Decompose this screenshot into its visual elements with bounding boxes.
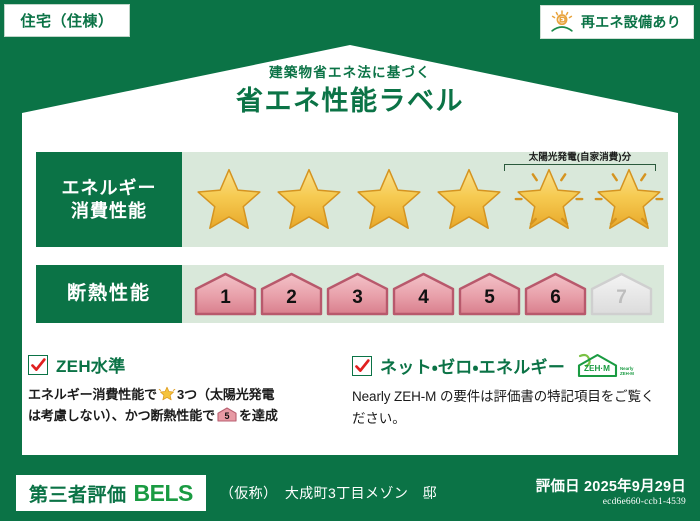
building-type-tag: 住宅（住棟） bbox=[4, 4, 130, 37]
insulation-level-group: 1234567 bbox=[182, 265, 653, 323]
headline-block: 建築物省エネ法に基づく 省エネ性能ラベル bbox=[0, 64, 700, 117]
energy-stars-body: 太陽光発電(自家消費)分 bbox=[182, 152, 668, 247]
star-icon bbox=[350, 161, 428, 239]
zeh-standard-column: ZEH水準 エネルギー消費性能で 3つ（太陽光発電は考慮しない）、かつ断熱性能で… bbox=[28, 352, 352, 430]
inline-badge-number: 5 bbox=[225, 411, 230, 421]
solar-sun-icon bbox=[549, 10, 575, 34]
insulation-label-text: 断熱性能 bbox=[67, 282, 151, 306]
renewable-badge-label: 再エネ設備あり bbox=[581, 12, 681, 32]
zeh-body-part-c: は考慮しない）、かつ断熱性能で bbox=[28, 408, 215, 423]
footer-bar: 第三者評価 BELS （仮称） 大成町3丁目メゾン 邸 評価日 2025年9月2… bbox=[0, 465, 700, 521]
star-icon bbox=[430, 161, 508, 239]
insulation-level-number: 3 bbox=[352, 288, 363, 316]
star-rating-group bbox=[182, 152, 668, 247]
insulation-level-badge-5: 5 bbox=[458, 272, 521, 316]
insulation-level-badge-2: 2 bbox=[260, 272, 323, 316]
insulation-levels-body: 1234567 bbox=[182, 265, 664, 323]
zeh-body-part-d: を達成 bbox=[239, 408, 278, 423]
third-party-label: 第三者評価 bbox=[29, 480, 127, 507]
insulation-level-number: 5 bbox=[484, 288, 495, 316]
zeh-m-logo-icon: ZEH·M Nearly ZEH-M bbox=[576, 352, 638, 379]
zeh-standard-body: エネルギー消費性能で 3つ（太陽光発電は考慮しない）、かつ断熱性能で 5 を達成 bbox=[28, 384, 342, 426]
net-zero-body: Nearly ZEH-M の要件は評価書の特記項目をご覧ください。 bbox=[352, 386, 666, 430]
energy-label-line2: 消費性能 bbox=[71, 200, 147, 223]
net-zero-header: ネット・ゼロ・エネルギー ZEH·M Nearly ZEH-M bbox=[352, 352, 666, 379]
zeh-m-logo-sub2: ZEH-M bbox=[620, 371, 634, 376]
zeh-standard-checkbox bbox=[28, 355, 48, 375]
footer-meta: 評価日 2025年9月29日 ecd6e660-ccb1-4539 bbox=[536, 479, 686, 508]
insulation-level-number: 1 bbox=[220, 288, 231, 316]
building-type-label: 住宅（住棟） bbox=[20, 10, 113, 31]
star-icon bbox=[190, 161, 268, 239]
insulation-level-badge-3: 3 bbox=[326, 272, 389, 316]
zeh-standard-header: ZEH水準 bbox=[28, 352, 342, 377]
insulation-level-badge-4: 4 bbox=[392, 272, 455, 316]
inline-insulation-badge: 5 bbox=[217, 407, 237, 422]
reference-code: ecd6e660-ccb1-4539 bbox=[536, 497, 686, 507]
star-icon bbox=[270, 161, 348, 239]
net-zero-title: ネット・ゼロ・エネルギー bbox=[380, 353, 565, 378]
insulation-level-badge-6: 6 bbox=[524, 272, 587, 316]
insulation-level-badge-1: 1 bbox=[194, 272, 257, 316]
zeh-body-part-a: エネルギー消費性能で bbox=[28, 387, 157, 402]
evaluation-date: 評価日 2025年9月29日 bbox=[536, 479, 686, 496]
energy-label-line1: エネルギー bbox=[62, 177, 157, 200]
star-icon-solar bbox=[510, 161, 588, 239]
energy-consumption-row: エネルギー 消費性能 太陽光発電(自家消費)分 bbox=[36, 152, 664, 247]
insulation-performance-row: 断熱性能 1234567 bbox=[36, 265, 664, 323]
insulation-level-badge-7: 7 bbox=[590, 272, 653, 316]
net-zero-checkbox bbox=[352, 356, 372, 376]
zeh-body-part-b: 3つ（太陽光発電 bbox=[177, 387, 274, 402]
property-name: （仮称） 大成町3丁目メゾン 邸 bbox=[220, 483, 437, 503]
insulation-level-number: 4 bbox=[418, 288, 429, 316]
energy-consumption-label: エネルギー 消費性能 bbox=[36, 152, 182, 247]
headline-title: 省エネ性能ラベル bbox=[0, 85, 700, 117]
star-icon-solar bbox=[590, 161, 668, 239]
bels-certification-box: 第三者評価 BELS bbox=[16, 475, 206, 511]
zeh-m-logo-text: ZEH·M bbox=[584, 364, 610, 373]
energy-performance-label: 住宅（住棟） 再エネ設備あり 建築物省エネ法に基づく 省エネ性能ラベル bbox=[0, 0, 700, 521]
insulation-level-number: 2 bbox=[286, 288, 297, 316]
inline-star-icon bbox=[158, 385, 176, 402]
zeh-standard-title: ZEH水準 bbox=[56, 352, 126, 377]
insulation-level-number: 6 bbox=[550, 288, 561, 316]
headline-subtitle: 建築物省エネ法に基づく bbox=[0, 64, 700, 82]
info-columns: ZEH水準 エネルギー消費性能で 3つ（太陽光発電は考慮しない）、かつ断熱性能で… bbox=[28, 352, 676, 430]
insulation-level-number: 7 bbox=[616, 288, 627, 316]
bels-label: BELS bbox=[134, 480, 193, 507]
net-zero-energy-column: ネット・ゼロ・エネルギー ZEH·M Nearly ZEH-M Nearly Z… bbox=[352, 352, 676, 430]
insulation-performance-label: 断熱性能 bbox=[36, 265, 182, 323]
renewable-energy-badge: 再エネ設備あり bbox=[540, 5, 694, 39]
